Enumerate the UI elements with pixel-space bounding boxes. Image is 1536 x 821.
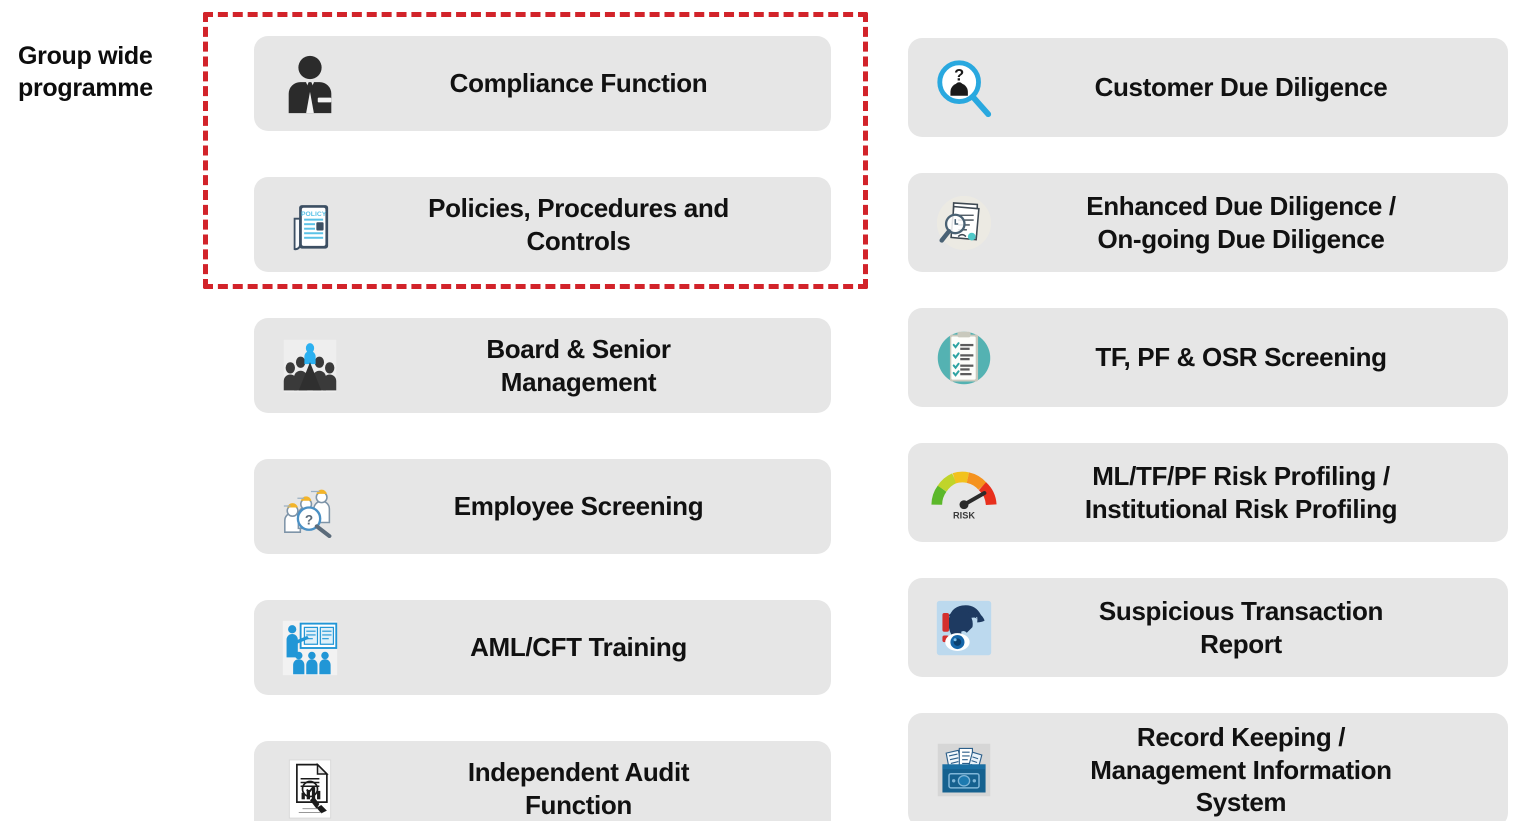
card-label: Employee Screening	[352, 490, 817, 523]
risk-gauge-icon: RISK	[928, 457, 1000, 529]
card-enhanced-ongoing-due-diligence[interactable]: Enhanced Due Diligence / On-going Due Di…	[908, 173, 1508, 272]
card-label: Customer Due Diligence	[1006, 71, 1494, 104]
card-employee-screening[interactable]: ? Employee Screening	[254, 459, 831, 554]
card-label: Suspicious Transaction Report	[1006, 595, 1494, 660]
policy-document-icon: POLICY	[274, 189, 346, 261]
training-presentation-icon	[274, 612, 346, 684]
card-label: Compliance Function	[352, 67, 817, 100]
card-label: Policies, Procedures and Controls	[352, 192, 817, 257]
card-risk-profiling[interactable]: RISK ML/TF/PF Risk Profiling / Instituti…	[908, 443, 1508, 542]
clipboard-checklist-teal-icon	[928, 322, 1000, 394]
svg-text:?: ?	[954, 66, 964, 84]
card-policies-procedures-controls[interactable]: POLICY Policies, Procedures and Controls	[254, 177, 831, 272]
card-label: ML/TF/PF Risk Profiling / Institutional …	[1006, 460, 1494, 525]
businessman-compliance-officer-icon	[274, 48, 346, 120]
card-suspicious-transaction-report[interactable]: Suspicious Transaction Report	[908, 578, 1508, 677]
right-column: ? Customer Due Diligence	[908, 38, 1508, 821]
card-label: Enhanced Due Diligence / On-going Due Di…	[1006, 190, 1494, 255]
left-column: Compliance Function POLICY	[254, 36, 831, 821]
card-independent-audit-function[interactable]: Independent Audit Function	[254, 741, 831, 821]
magnifier-documents-icon	[928, 187, 1000, 259]
risk-gauge-label: RISK	[953, 510, 975, 520]
card-label: AML/CFT Training	[352, 631, 817, 664]
card-record-keeping-mis[interactable]: Record Keeping / Management Information …	[908, 713, 1508, 821]
records-wallet-documents-icon	[928, 734, 1000, 806]
card-tf-pf-osr-screening[interactable]: TF, PF & OSR Screening	[908, 308, 1508, 407]
audit-report-checklist-icon	[274, 753, 346, 821]
board-senior-management-icon	[274, 330, 346, 402]
magnifier-person-question-icon: ?	[928, 52, 1000, 124]
svg-text:POLICY: POLICY	[301, 210, 327, 217]
card-compliance-function[interactable]: Compliance Function	[254, 36, 831, 131]
card-customer-due-diligence[interactable]: ? Customer Due Diligence	[908, 38, 1508, 137]
svg-text:?: ?	[305, 512, 313, 527]
card-label: Record Keeping / Management Information …	[1006, 721, 1494, 819]
card-aml-cft-training[interactable]: AML/CFT Training	[254, 600, 831, 695]
card-label: Board & Senior Management	[352, 333, 817, 398]
card-label: TF, PF & OSR Screening	[1006, 341, 1494, 374]
card-label: Independent Audit Function	[352, 756, 817, 821]
detective-suspicious-eye-icon	[928, 592, 1000, 664]
card-board-senior-management[interactable]: Board & Senior Management	[254, 318, 831, 413]
employee-screening-magnifier-icon: ?	[274, 471, 346, 543]
diagram-canvas: Group wide programme Compliance Function	[0, 0, 1536, 821]
group-wide-programme-label: Group wide programme	[18, 40, 198, 104]
